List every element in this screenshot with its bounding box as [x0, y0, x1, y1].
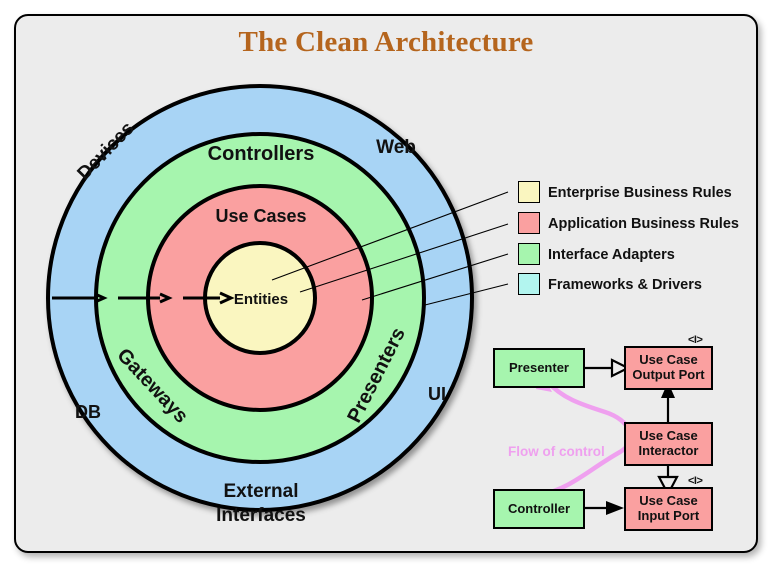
- flow-of-control-label: Flow of control: [508, 444, 605, 459]
- interface-marker-output-port: <I>: [688, 334, 702, 346]
- node-controller[interactable]: Controller: [493, 489, 585, 529]
- clean-architecture-diagram: The Clean Architecture Devices Web DB: [0, 0, 772, 567]
- node-output-port-line1: Use Case: [639, 353, 698, 368]
- node-interactor-line1: Use Case: [639, 429, 698, 444]
- node-controller-label: Controller: [508, 502, 570, 517]
- node-presenter[interactable]: Presenter: [493, 348, 585, 388]
- node-use-case-interactor[interactable]: Use Case Interactor: [624, 422, 713, 466]
- interface-marker-input-port: <I>: [688, 475, 702, 487]
- node-input-port-line2: Input Port: [638, 509, 699, 524]
- flow-diagram-connectors: [0, 0, 772, 567]
- node-output-port-line2: Output Port: [632, 368, 704, 383]
- flow-of-control-arrow: [536, 372, 631, 495]
- node-presenter-label: Presenter: [509, 361, 569, 376]
- node-input-port-line1: Use Case: [639, 494, 698, 509]
- node-interactor-line2: Interactor: [639, 444, 699, 459]
- node-use-case-output-port[interactable]: Use Case Output Port: [624, 346, 713, 390]
- node-use-case-input-port[interactable]: Use Case Input Port: [624, 487, 713, 531]
